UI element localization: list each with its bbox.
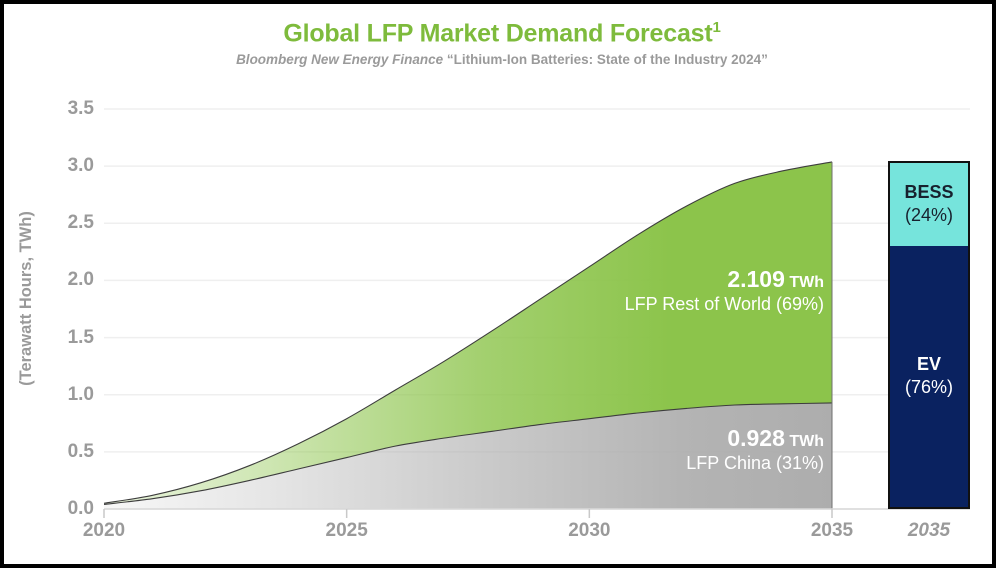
x-axis-tick-label: 2030 xyxy=(568,520,610,542)
x-axis-tick-label: 2020 xyxy=(83,520,125,542)
bar-segment-ev-name: EV xyxy=(917,354,941,376)
x-axis-tick-label: 2035 xyxy=(811,520,853,542)
annotation-china-label: LFP China (31%) xyxy=(524,453,824,474)
annotation-china-unit: TWh xyxy=(789,433,824,450)
bar-segment-ev-pct: (76%) xyxy=(905,376,953,399)
area-chart-svg xyxy=(4,4,996,568)
plot-area xyxy=(4,4,996,568)
annotation-lfp-china: 0.928 TWh LFP China (31%) xyxy=(524,425,824,474)
annotation-row-unit: TWh xyxy=(789,274,824,291)
x-axis-tick-label: 2025 xyxy=(326,520,368,542)
annotation-row-value: 2.109 xyxy=(727,266,785,292)
annotation-china-value: 0.928 xyxy=(727,425,785,451)
annotation-lfp-rest-of-world: 2.109 TWh LFP Rest of World (69%) xyxy=(524,266,824,315)
bar-segment-bess-name: BESS xyxy=(904,182,953,204)
bar-segment-bess: BESS (24%) xyxy=(890,163,968,246)
x-axis-label-side-bar: 2035 xyxy=(908,520,950,542)
x-axis-tick-marks xyxy=(104,509,832,518)
chart-frame: Global LFP Market Demand Forecast1 Bloom… xyxy=(0,0,996,568)
side-stacked-bar-2035: BESS (24%) EV (76%) xyxy=(888,161,970,509)
bar-segment-bess-pct: (24%) xyxy=(905,204,953,227)
bar-segment-ev: EV (76%) xyxy=(890,246,968,507)
annotation-row-label: LFP Rest of World (69%) xyxy=(524,294,824,315)
